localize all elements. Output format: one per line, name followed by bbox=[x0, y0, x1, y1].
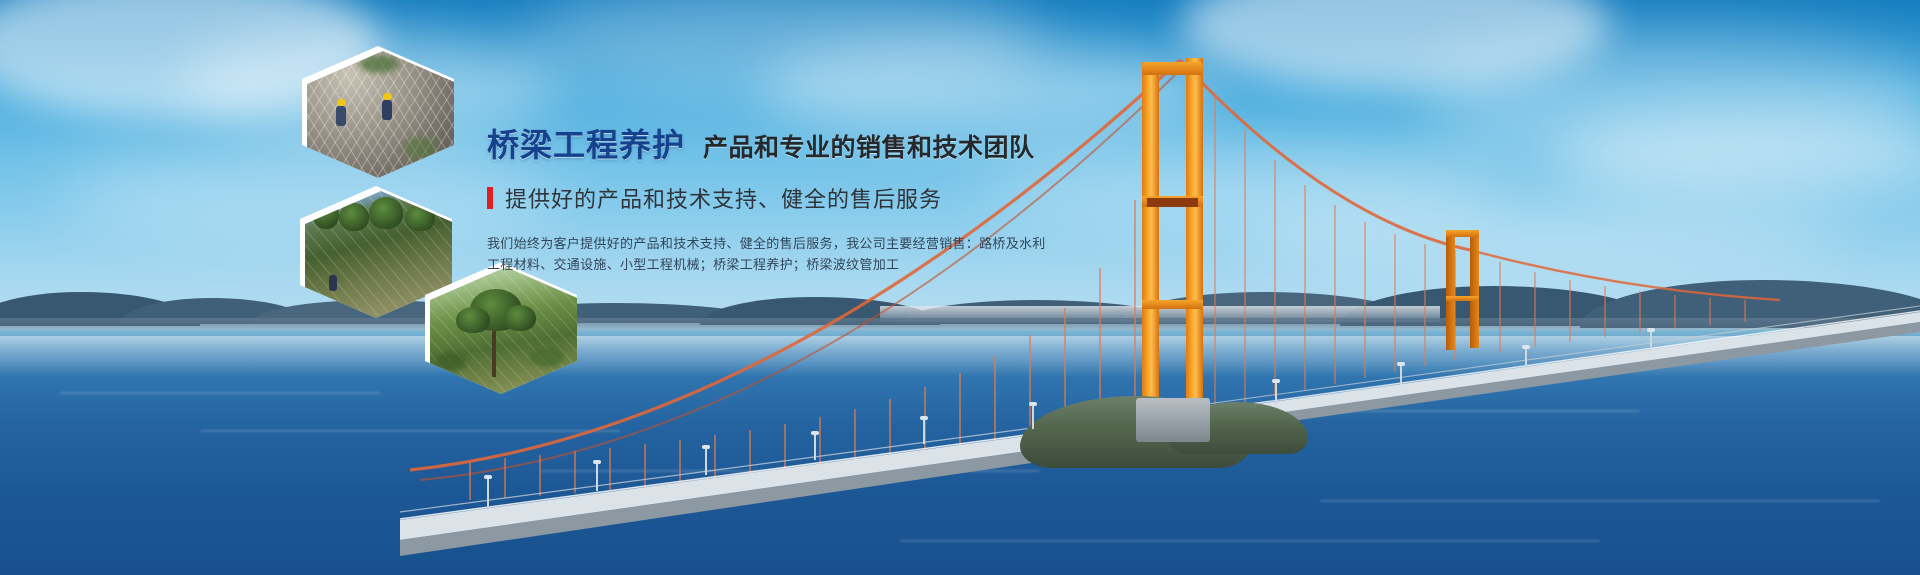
deck-lamp bbox=[1650, 331, 1652, 347]
deck-lamp bbox=[814, 434, 816, 460]
headline-secondary: 产品和专业的销售和技术团队 bbox=[703, 128, 1035, 164]
worker-body bbox=[336, 106, 346, 126]
worker-figure bbox=[329, 275, 337, 291]
far-tower-crossbeam-mid bbox=[1446, 296, 1479, 301]
suspension-bridge bbox=[0, 0, 1920, 575]
banner-text-block: 桥梁工程养护 产品和专业的销售和技术团队 提供好的产品和技术支持、健全的售后服务… bbox=[487, 120, 1047, 275]
vegetation-patch bbox=[359, 55, 399, 73]
worker-helmet bbox=[383, 93, 392, 100]
worker-body bbox=[382, 100, 392, 120]
far-tower-crossbeam bbox=[1446, 230, 1479, 237]
tree bbox=[339, 203, 369, 231]
shrub bbox=[530, 347, 564, 367]
bridge-tower-main-right bbox=[1186, 58, 1203, 418]
tree-canopy bbox=[456, 307, 490, 333]
banner-subheadline: 提供好的产品和技术支持、健全的售后服务 bbox=[487, 182, 1047, 214]
worker-helmet bbox=[337, 99, 346, 106]
tree bbox=[369, 197, 403, 229]
bridge-tower-far-right bbox=[1470, 230, 1479, 348]
deck-lamp bbox=[1400, 365, 1402, 385]
deck-lamp bbox=[1275, 382, 1277, 404]
subheadline-text: 提供好的产品和技术支持、健全的售后服务 bbox=[505, 182, 942, 214]
banner-description: 我们始终为客户提供好的产品和技术支持、健全的售后服务，我公司主要经营销售：路桥及… bbox=[487, 233, 917, 275]
deck-lamp bbox=[923, 419, 925, 444]
tree-canopy bbox=[504, 305, 536, 331]
deck-lamp bbox=[487, 478, 489, 508]
tower-sign-plate bbox=[1147, 198, 1198, 207]
headline-primary: 桥梁工程养护 bbox=[487, 120, 685, 166]
deck-lamp bbox=[596, 463, 598, 491]
bridge-tower-far-left bbox=[1446, 232, 1455, 350]
tower-pier bbox=[1136, 398, 1210, 442]
description-line-2: 工程材料、交通设施、小型工程机械；桥梁工程养护；桥梁波纹管加工 bbox=[487, 254, 917, 275]
bridge-tower-main-left bbox=[1142, 62, 1159, 424]
description-line-1: 我们始终为客户提供好的产品和技术支持、健全的售后服务，我公司主要经营销售：路桥及… bbox=[487, 233, 917, 254]
deck-lamp bbox=[1032, 405, 1034, 429]
banner-headline: 桥梁工程养护 产品和专业的销售和技术团队 bbox=[487, 120, 1047, 166]
tower-crossbeam-top bbox=[1142, 62, 1203, 75]
red-accent-bar bbox=[487, 187, 493, 209]
tower-crossbeam-lower bbox=[1142, 300, 1203, 309]
deck-lamp bbox=[1525, 348, 1527, 366]
hero-banner: 桥梁工程养护 产品和专业的销售和技术团队 提供好的产品和技术支持、健全的售后服务… bbox=[0, 0, 1920, 575]
bridge-cables bbox=[0, 0, 1920, 575]
deck-lamp bbox=[705, 448, 707, 475]
